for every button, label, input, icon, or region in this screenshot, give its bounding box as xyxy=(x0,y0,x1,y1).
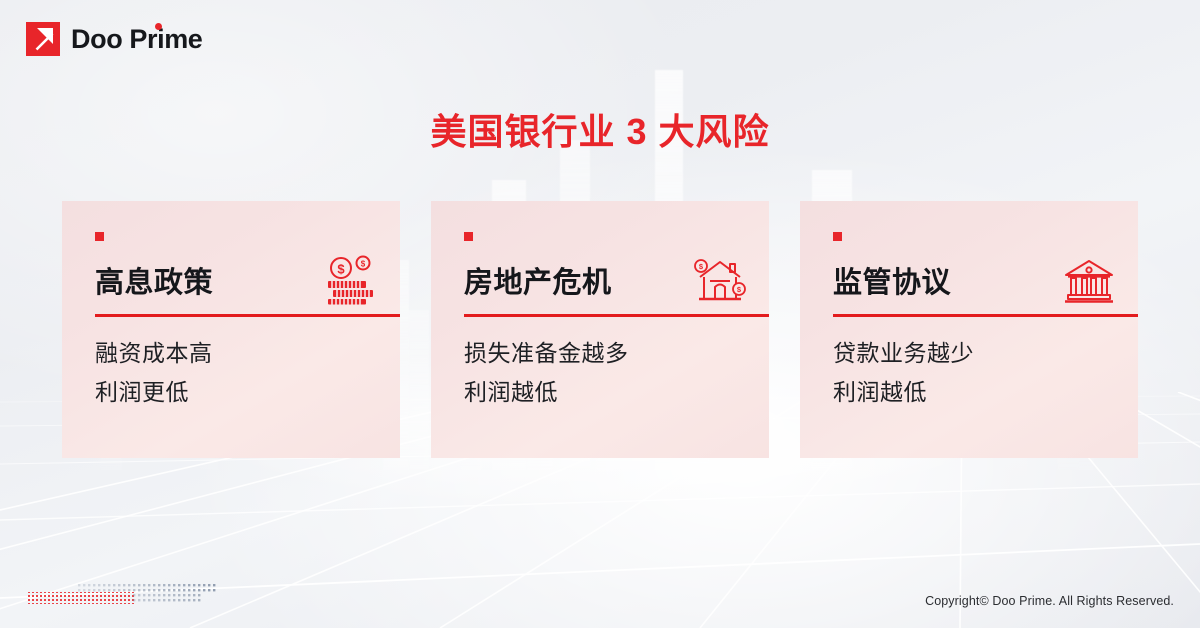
house-with-dollar-icon: $ $ xyxy=(689,254,751,306)
card-header: 房地产危机 xyxy=(464,249,751,311)
copyright-text: Copyright© Doo Prime. All Rights Reserve… xyxy=(925,594,1174,608)
card-title: 高息政策 xyxy=(95,259,213,301)
card-title: 房地产危机 xyxy=(464,259,612,301)
square-bullet-icon xyxy=(464,232,473,241)
card-body-line: 融资成本高 xyxy=(95,334,380,373)
card-body-line: 利润更低 xyxy=(95,373,380,412)
brand-logo-text: Doo Prime xyxy=(71,24,202,55)
slide-canvas: Doo Prime 美国银行业 3 大风险 高息政策 $ $ xyxy=(0,0,1200,628)
card-divider xyxy=(95,314,400,317)
page-title: 美国银行业 3 大风险 xyxy=(0,103,1200,155)
logo-accent-dot-icon xyxy=(155,23,162,30)
card-divider xyxy=(464,314,769,317)
card-body: 贷款业务越少 利润越低 xyxy=(833,334,1118,412)
brand-logo-label: Doo Prime xyxy=(71,24,202,54)
card-divider xyxy=(833,314,1138,317)
doo-prime-logo-mark-icon xyxy=(26,22,60,56)
square-bullet-icon xyxy=(833,232,842,241)
card-body-line: 损失准备金越多 xyxy=(464,334,749,373)
dotted-halftone-decoration xyxy=(28,579,228,607)
risk-card-regulation[interactable]: 监管协议 xyxy=(800,201,1138,458)
brand-logo[interactable]: Doo Prime xyxy=(26,22,202,56)
coins-stack-icon: $ $ xyxy=(320,254,382,306)
card-title: 监管协议 xyxy=(833,259,951,301)
card-body-line: 贷款业务越少 xyxy=(833,334,1118,373)
risk-cards-row: 高息政策 $ $ xyxy=(62,201,1138,458)
svg-text:$: $ xyxy=(361,260,366,269)
card-header: 高息政策 $ $ xyxy=(95,249,382,311)
svg-text:$: $ xyxy=(337,262,345,277)
card-body-line: 利润越低 xyxy=(833,373,1118,412)
card-body: 融资成本高 利润更低 xyxy=(95,334,380,412)
square-bullet-icon xyxy=(95,232,104,241)
risk-card-real-estate[interactable]: 房地产危机 xyxy=(431,201,769,458)
risk-card-high-interest[interactable]: 高息政策 $ $ xyxy=(62,201,400,458)
card-body: 损失准备金越多 利润越低 xyxy=(464,334,749,412)
bank-building-icon xyxy=(1058,254,1120,306)
card-body-line: 利润越低 xyxy=(464,373,749,412)
card-header: 监管协议 xyxy=(833,249,1120,311)
